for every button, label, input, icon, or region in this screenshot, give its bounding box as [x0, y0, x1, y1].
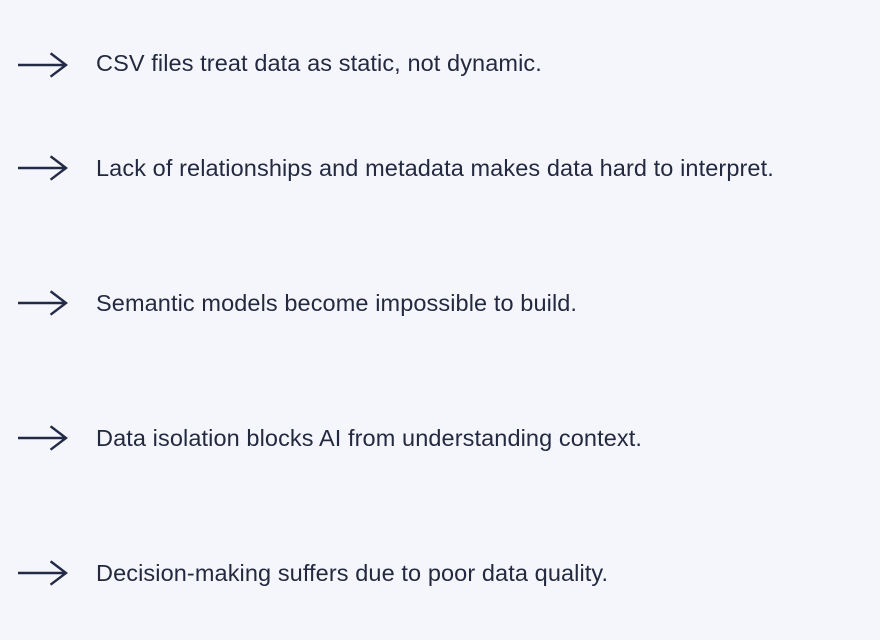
list-item-label: Decision-making suffers due to poor data…	[96, 558, 608, 588]
arrow-right-icon	[18, 560, 68, 586]
arrow-right-icon	[18, 425, 68, 451]
arrow-right-icon	[18, 290, 68, 316]
list-item: CSV files treat data as static, not dyna…	[0, 0, 880, 100]
list-item: Decision-making suffers due to poor data…	[0, 505, 880, 640]
bullet-list: CSV files treat data as static, not dyna…	[0, 0, 880, 640]
arrow-right-icon	[18, 155, 68, 181]
list-item-label: Lack of relationships and metadata makes…	[96, 153, 774, 183]
list-item: Semantic models become impossible to bui…	[0, 235, 880, 370]
list-item: Data isolation blocks AI from understand…	[0, 370, 880, 505]
arrow-right-icon	[18, 52, 68, 78]
slide-body: CSV files treat data as static, not dyna…	[0, 0, 880, 618]
list-item-label: CSV files treat data as static, not dyna…	[96, 48, 542, 78]
list-item-label: Semantic models become impossible to bui…	[96, 288, 577, 318]
list-item: Lack of relationships and metadata makes…	[0, 100, 880, 235]
list-item-label: Data isolation blocks AI from understand…	[96, 423, 642, 453]
